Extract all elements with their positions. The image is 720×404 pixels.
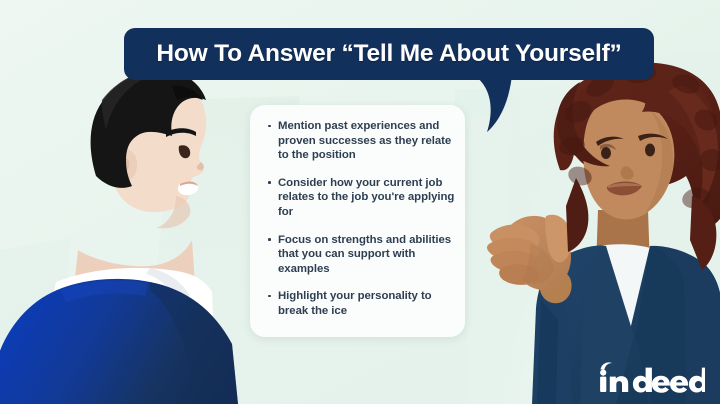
indeed-logo	[597, 360, 705, 394]
infographic-canvas: How To Answer “Tell Me About Yourself” M…	[0, 0, 720, 404]
list-item: Highlight your personality to break the …	[267, 289, 457, 318]
page-title: How To Answer “Tell Me About Yourself”	[156, 40, 621, 68]
list-item: Focus on strengths and abilities that yo…	[267, 233, 457, 277]
list-item: Consider how your current job relates to…	[267, 176, 457, 220]
tips-list: Mention past experiences and proven succ…	[267, 119, 457, 319]
list-item: Mention past experiences and proven succ…	[267, 119, 457, 163]
title-banner: How To Answer “Tell Me About Yourself”	[124, 28, 654, 80]
tips-card: Mention past experiences and proven succ…	[250, 105, 465, 337]
